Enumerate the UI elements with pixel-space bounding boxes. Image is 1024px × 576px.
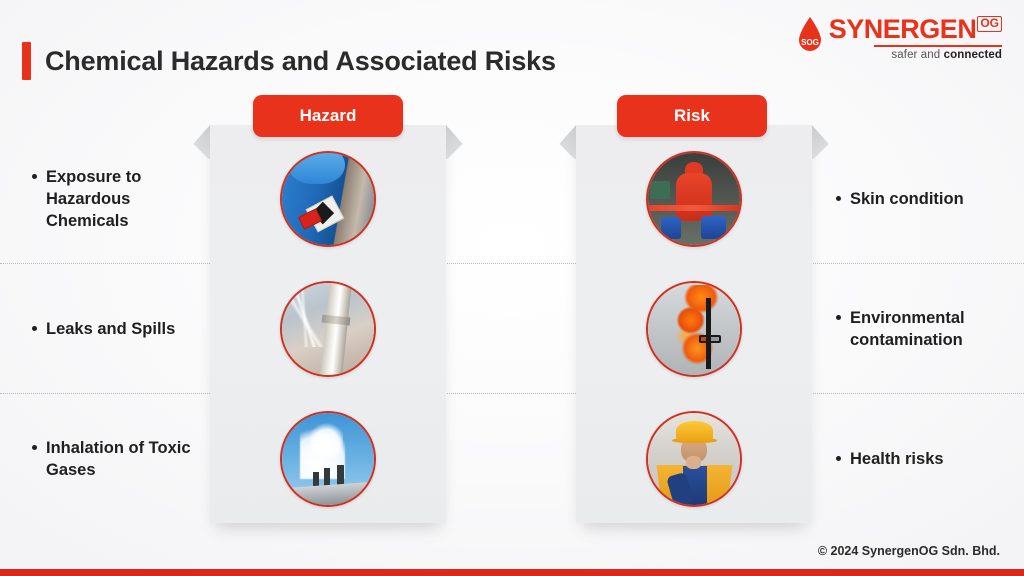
red-rail-shape (648, 205, 740, 211)
content-rows: Exposure to Hazardous Chemicals (0, 0, 1024, 576)
table-row: Exposure to Hazardous Chemicals (0, 135, 1024, 263)
table-row: Leaks and Spills (0, 265, 1024, 393)
risk-text-cell: Skin condition (814, 188, 964, 210)
worker-coughing-photo (646, 411, 742, 507)
hazard-label: Inhalation of Toxic Gases (46, 437, 210, 481)
hazard-image-cell (264, 265, 392, 393)
column-header-risk-label: Risk (674, 106, 710, 126)
risk-image-cell (630, 395, 758, 523)
list-item: Health risks (836, 448, 944, 470)
list-item: Exposure to Hazardous Chemicals (32, 166, 210, 232)
list-item: Skin condition (836, 188, 964, 210)
bullet-icon (836, 196, 841, 201)
flame-shape (663, 285, 729, 373)
hazard-image-cell (264, 135, 392, 263)
smoke-plume-shape (310, 420, 343, 457)
hand-shape (686, 456, 702, 469)
rooftop-shape (280, 481, 376, 507)
leaking-pipe-photo (280, 281, 376, 377)
list-item: Leaks and Spills (32, 318, 175, 340)
spray-jet-shape (280, 290, 334, 347)
bullet-icon (32, 326, 37, 331)
hazard-image-cell (264, 395, 392, 523)
smokestack-emissions-photo (280, 411, 376, 507)
risk-image-cell (630, 135, 758, 263)
hazard-label: Leaks and Spills (46, 318, 175, 340)
bullet-icon (32, 445, 37, 450)
risk-label: Health risks (850, 448, 944, 470)
slide-canvas: Chemical Hazards and Associated Risks SO… (0, 0, 1024, 576)
column-header-hazard[interactable]: Hazard (253, 95, 403, 137)
risk-image-cell (630, 265, 758, 393)
flare-platform-shape (699, 335, 721, 343)
blue-jug-shape (661, 217, 681, 239)
column-header-risk[interactable]: Risk (617, 95, 767, 137)
background-machine-shape (650, 181, 670, 199)
hazard-text-cell: Exposure to Hazardous Chemicals (0, 166, 210, 232)
blue-jug-shape (701, 216, 726, 240)
pipe-artwork (282, 283, 374, 375)
flare-mast-shape (706, 298, 712, 370)
column-header-hazard-label: Hazard (300, 106, 357, 126)
smokestack-artwork (282, 413, 374, 505)
bullet-icon (32, 174, 37, 179)
risk-label: Environmental contamination (850, 307, 1024, 351)
worker-red-artwork (648, 153, 740, 245)
hazard-text-cell: Leaks and Spills (0, 318, 210, 340)
drums-artwork (282, 153, 374, 245)
worker-yellow-artwork (648, 413, 740, 505)
yellow-hard-hat-shape (676, 421, 714, 440)
fire-artwork (648, 283, 740, 375)
risk-text-cell: Environmental contamination (814, 307, 1024, 351)
list-item: Inhalation of Toxic Gases (32, 437, 210, 481)
list-item: Environmental contamination (836, 307, 1024, 351)
flare-stack-fire-photo (646, 281, 742, 377)
bullet-icon (836, 456, 841, 461)
hazard-text-cell: Inhalation of Toxic Gases (0, 437, 210, 481)
risk-label: Skin condition (850, 188, 964, 210)
worker-handling-chemical-containers-photo (646, 151, 742, 247)
hazard-label: Exposure to Hazardous Chemicals (46, 166, 210, 232)
risk-text-cell: Health risks (814, 448, 944, 470)
table-row: Inhalation of Toxic Gases (0, 395, 1024, 523)
red-coverall-shape (676, 173, 713, 221)
blue-chemical-drums-photo (280, 151, 376, 247)
bullet-icon (836, 315, 841, 320)
